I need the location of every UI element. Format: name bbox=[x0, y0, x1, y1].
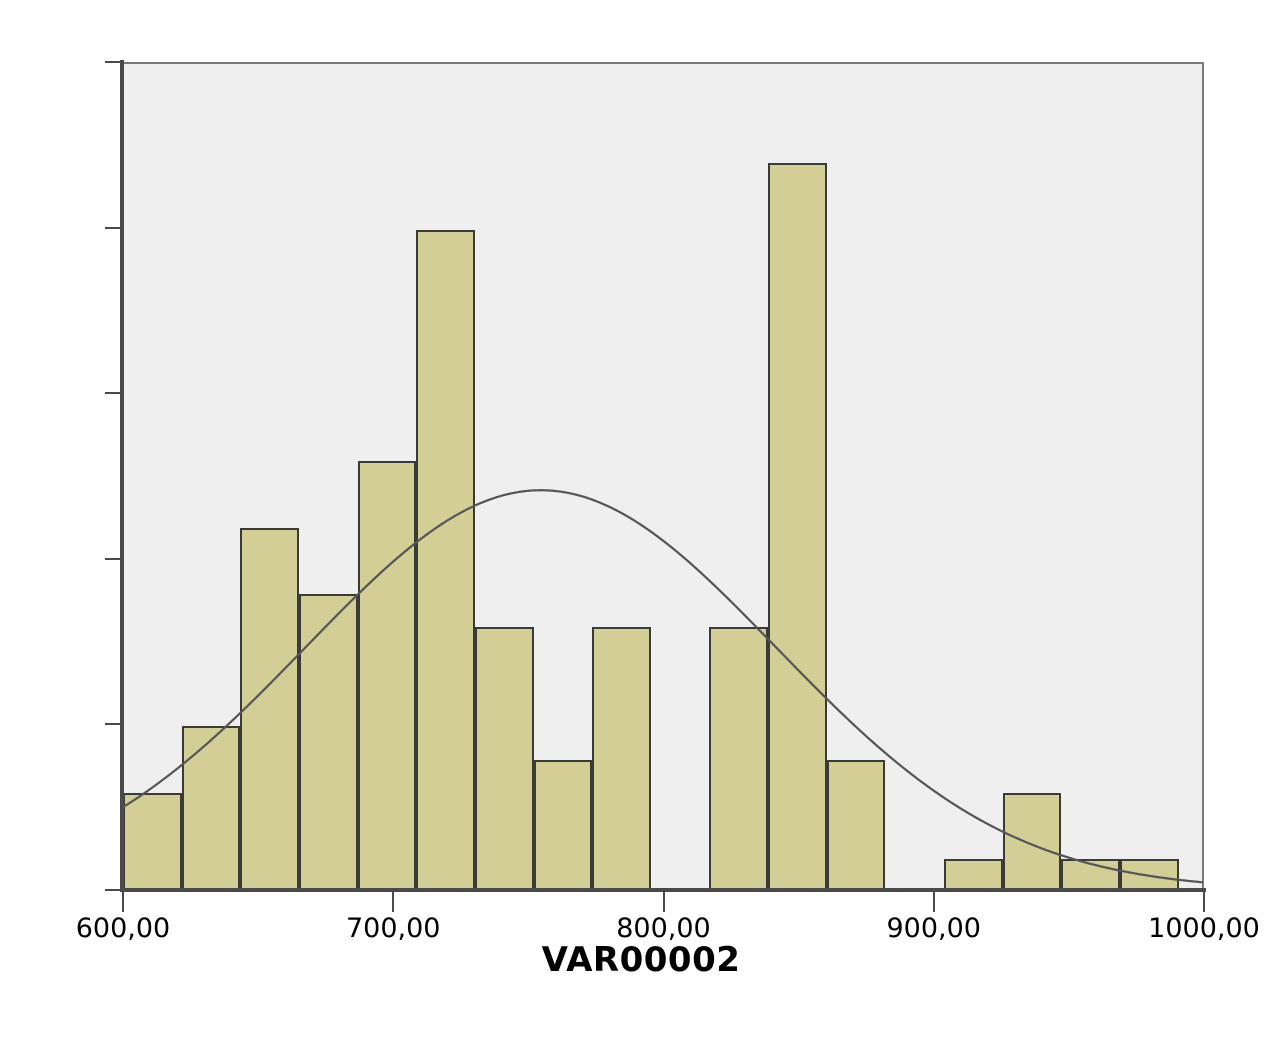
histogram-bar bbox=[299, 594, 358, 892]
x-tick-mark bbox=[392, 890, 394, 912]
histogram-bar bbox=[182, 726, 241, 892]
histogram-bar bbox=[1003, 793, 1062, 892]
y-axis-line bbox=[120, 60, 124, 892]
y-tick-mark bbox=[105, 227, 123, 229]
histogram-bar bbox=[123, 793, 182, 892]
histogram-bar bbox=[416, 230, 475, 892]
plot-area bbox=[123, 62, 1204, 890]
y-tick-mark bbox=[105, 558, 123, 560]
y-tick-mark bbox=[105, 889, 123, 891]
histogram-chart: 0510152025 600,00700,00800,00900,001000,… bbox=[0, 0, 1282, 1054]
y-tick-mark bbox=[105, 392, 123, 394]
y-tick-mark bbox=[105, 61, 123, 63]
histogram-bar bbox=[592, 627, 651, 892]
histogram-bar bbox=[475, 627, 534, 892]
x-axis-title: VAR00002 bbox=[0, 940, 1282, 980]
histogram-bar bbox=[240, 528, 299, 892]
histogram-bar bbox=[709, 627, 768, 892]
y-tick-mark bbox=[105, 723, 123, 725]
histogram-bar bbox=[768, 163, 827, 892]
histogram-bar bbox=[534, 760, 593, 892]
histogram-bar bbox=[827, 760, 886, 892]
x-tick-mark bbox=[663, 890, 665, 912]
x-tick-mark bbox=[933, 890, 935, 912]
histogram-bar bbox=[358, 461, 417, 892]
x-tick-mark bbox=[1203, 890, 1205, 912]
x-tick-mark bbox=[122, 890, 124, 912]
